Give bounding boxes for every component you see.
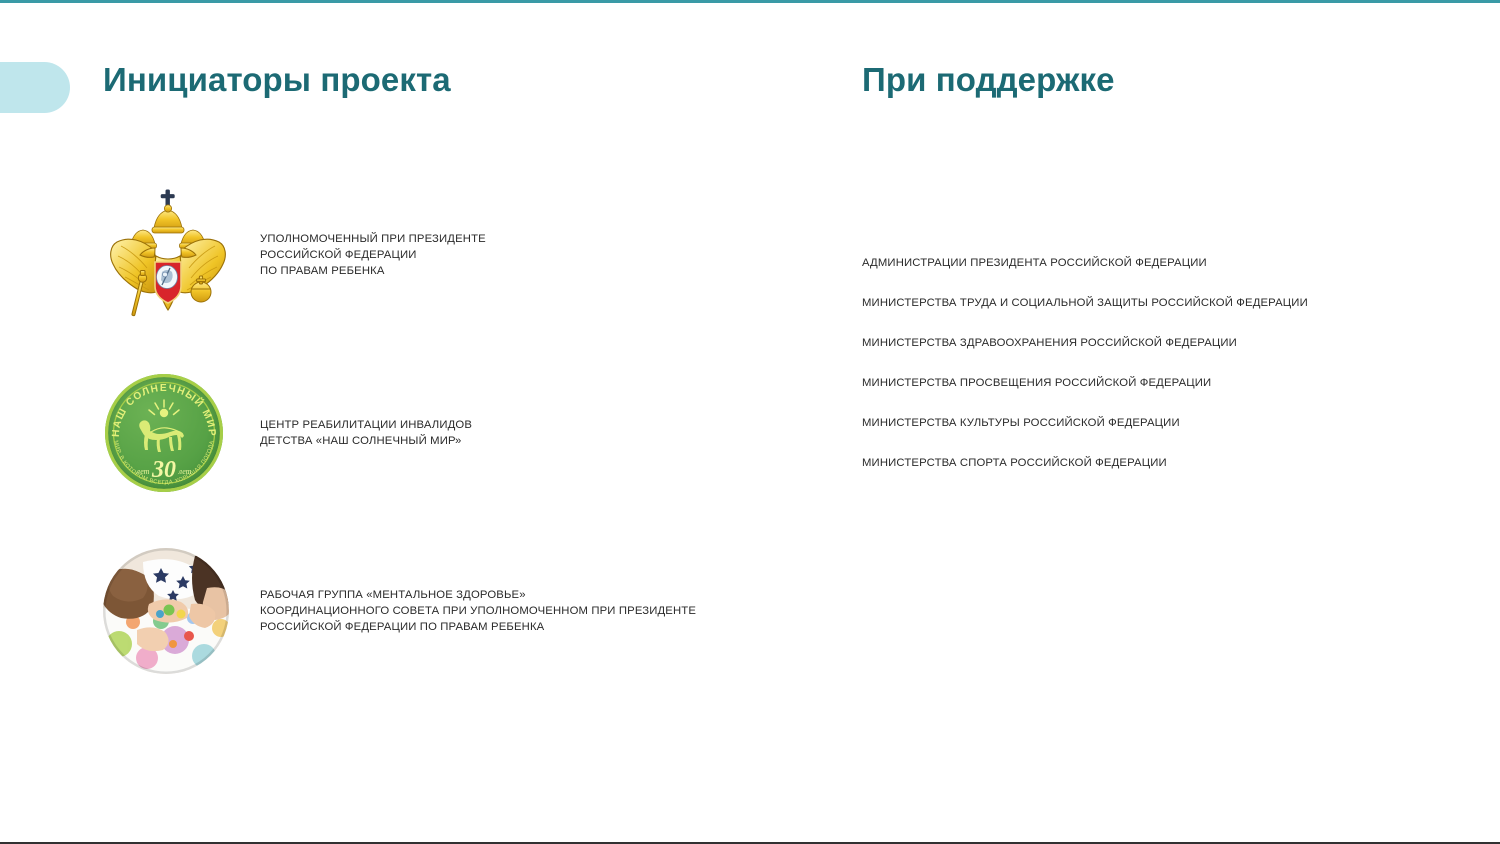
right-column-heading: При поддержке bbox=[862, 62, 1422, 98]
organization-row: «НАШ СОЛНЕЧНЫЙ МИР» МИР, В КОТОРОМ ВСЕГД… bbox=[103, 368, 823, 498]
svg-text:30: 30 bbox=[151, 457, 176, 483]
supporter-item: МИНИСТЕРСТВА ПРОСВЕЩЕНИЯ РОССИЙСКОЙ ФЕДЕ… bbox=[862, 375, 1482, 391]
organization-name: РАБОЧАЯ ГРУППА «МЕНТАЛЬНОЕ ЗДОРОВЬЕ» КОО… bbox=[260, 587, 696, 636]
initiator-organizations-list: УПОЛНОМОЧЕННЫЙ ПРИ ПРЕЗИДЕНТЕ РОССИЙСКОЙ… bbox=[103, 190, 823, 676]
children-playing-photo-icon bbox=[103, 548, 229, 674]
supporters-list: АДМИНИСТРАЦИИ ПРЕЗИДЕНТА РОССИЙСКОЙ ФЕДЕ… bbox=[862, 255, 1482, 471]
organization-name: ЦЕНТР РЕАБИЛИТАЦИИ ИНВАЛИДОВ ДЕТСТВА «НА… bbox=[260, 417, 472, 450]
left-column: Инициаторы проекта bbox=[103, 62, 803, 98]
supporter-item: МИНИСТЕРСТВА КУЛЬТУРЫ РОССИЙСКОЙ ФЕДЕРАЦ… bbox=[862, 415, 1482, 431]
supporter-item: МИНИСТЕРСТВА ЗДРАВООХРАНЕНИЯ РОССИЙСКОЙ … bbox=[862, 335, 1482, 351]
svg-text:лет: лет bbox=[136, 467, 150, 476]
svg-text:лет: лет bbox=[178, 467, 192, 476]
organization-row: РАБОЧАЯ ГРУППА «МЕНТАЛЬНОЕ ЗДОРОВЬЕ» КОО… bbox=[103, 546, 823, 676]
supporter-item: АДМИНИСТРАЦИИ ПРЕЗИДЕНТА РОССИЙСКОЙ ФЕДЕ… bbox=[862, 255, 1482, 271]
top-accent-rule bbox=[0, 0, 1500, 3]
slide-canvas: Инициаторы проекта При поддержке bbox=[0, 0, 1500, 844]
left-column-heading: Инициаторы проекта bbox=[103, 62, 803, 98]
russian-coat-of-arms-icon bbox=[107, 188, 229, 322]
organization-row: УПОЛНОМОЧЕННЫЙ ПРИ ПРЕЗИДЕНТЕ РОССИЙСКОЙ… bbox=[103, 190, 823, 320]
supporter-item: МИНИСТЕРСТВА ТРУДА И СОЦИАЛЬНОЙ ЗАЩИТЫ Р… bbox=[862, 295, 1482, 311]
supporter-item: МИНИСТЕРСТВА СПОРТА РОССИЙСКОЙ ФЕДЕРАЦИИ bbox=[862, 455, 1482, 471]
nash-solnechny-mir-badge-icon: «НАШ СОЛНЕЧНЫЙ МИР» МИР, В КОТОРОМ ВСЕГД… bbox=[105, 374, 223, 492]
organization-name: УПОЛНОМОЧЕННЫЙ ПРИ ПРЕЗИДЕНТЕ РОССИЙСКОЙ… bbox=[260, 231, 486, 280]
organization-logo bbox=[103, 190, 233, 320]
organization-logo: «НАШ СОЛНЕЧНЫЙ МИР» МИР, В КОТОРОМ ВСЕГД… bbox=[103, 368, 233, 498]
organization-logo bbox=[103, 546, 233, 676]
decorative-rounded-tab bbox=[0, 62, 70, 113]
right-column: При поддержке bbox=[862, 62, 1422, 98]
